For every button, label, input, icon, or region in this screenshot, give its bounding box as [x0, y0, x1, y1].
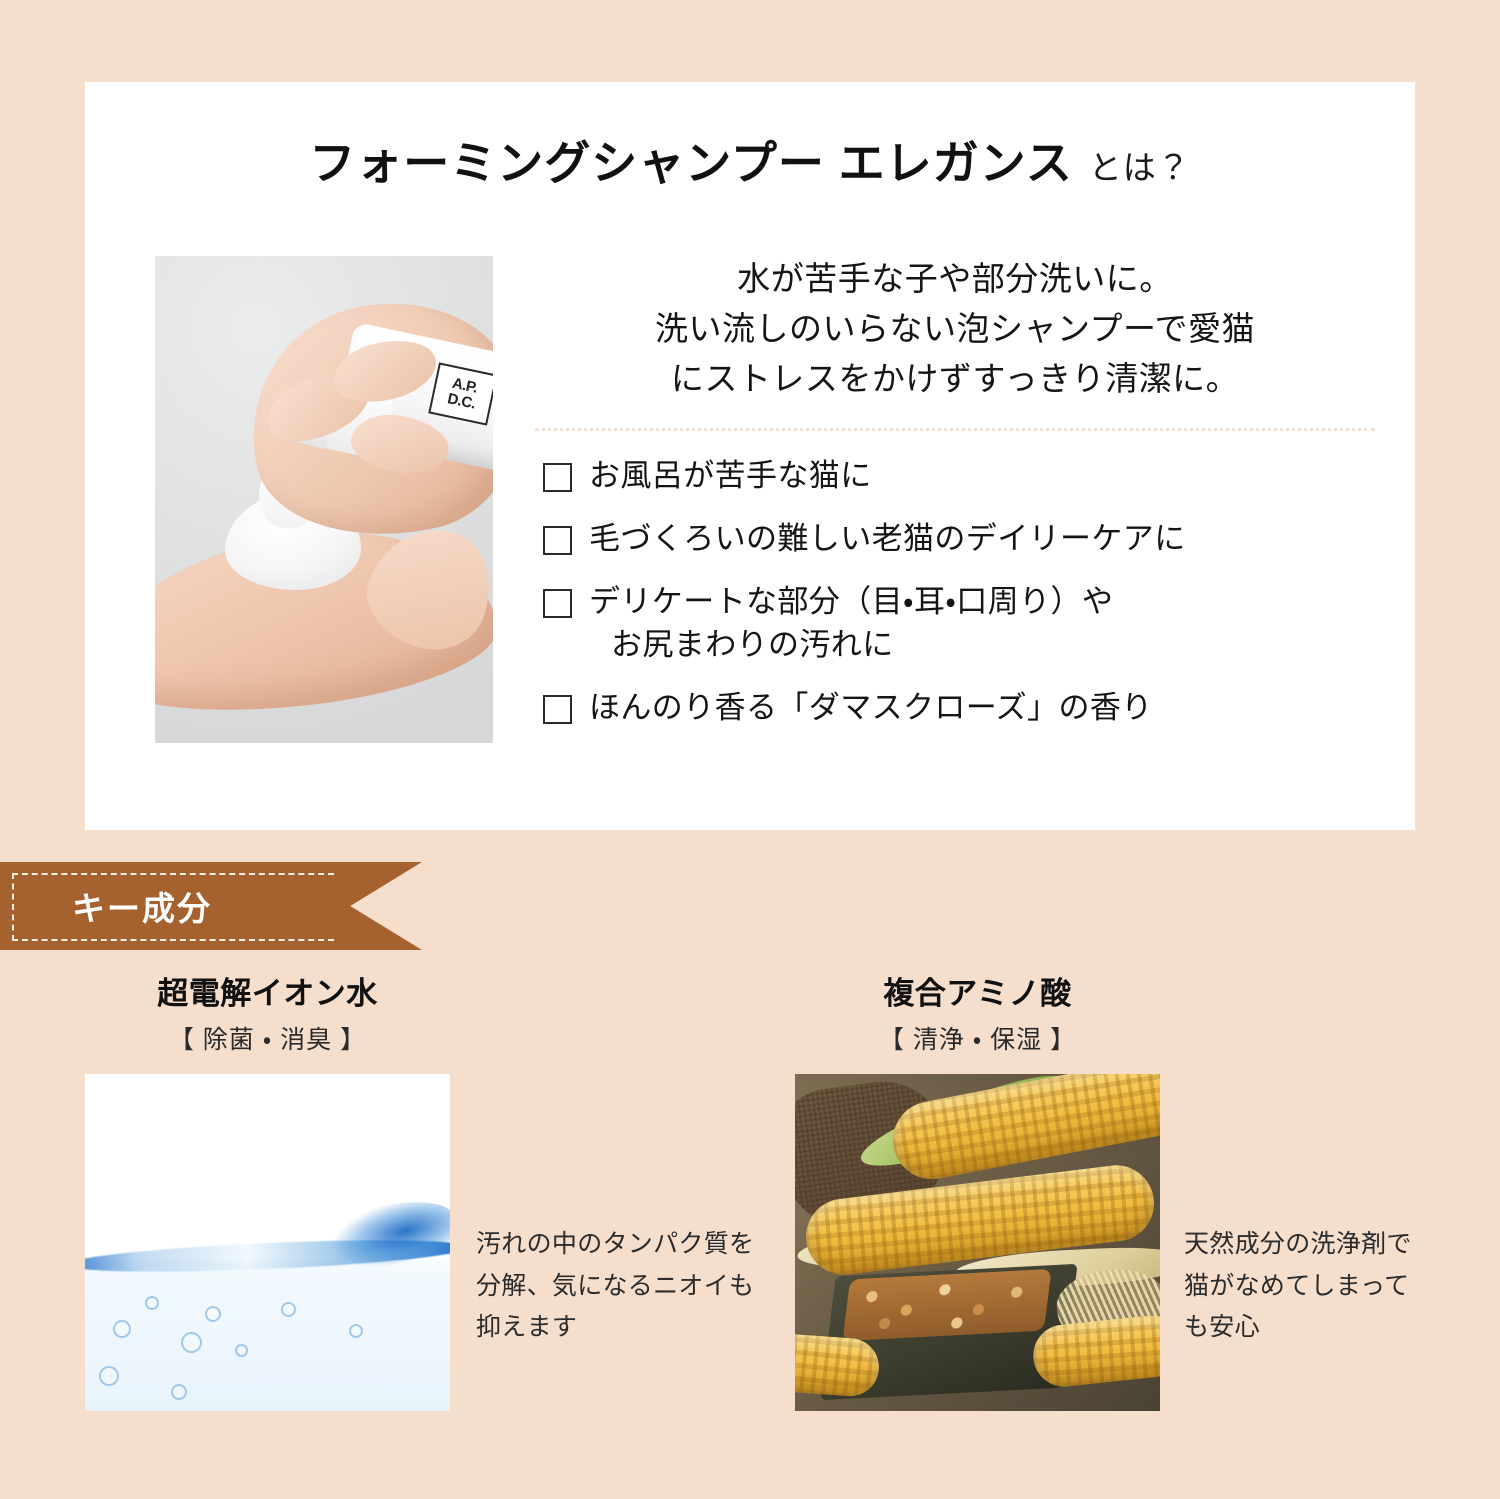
ingredient-title: 複合アミノ酸	[795, 975, 1160, 1012]
ingredient-description: 汚れの中のタンパク質を 分解、気になるニオイも 抑えます	[476, 1224, 754, 1349]
ingredient-subtitle: 【 清浄 ・ 保湿 】	[795, 1020, 1160, 1056]
hero-card: フォーミングシャンプー エレガンスとは？ A.P. D.C. 水が苦手な子や部分…	[85, 82, 1415, 830]
bubble-icon	[145, 1296, 159, 1310]
list-item-line1: デリケートな部分（目・耳・口周り）や	[589, 584, 1113, 619]
list-item: 毛づくろいの難しい老猫のデイリーケアに	[543, 518, 1385, 561]
list-item-label: ほんのり香る「ダマスクローズ」の香り	[589, 687, 1153, 730]
water-illustration	[85, 1074, 450, 1411]
lead-paragraph: 水が苦手な子や部分洗いに。 洗い流しのいらない泡シャンプーで愛猫 にストレスをか…	[525, 254, 1385, 404]
corn-kernels	[842, 1269, 1051, 1341]
checkbox-icon	[543, 589, 572, 618]
ingredient-heading: 超電解イオン水 【 除菌 ・ 消臭 】	[85, 975, 450, 1056]
water-splash	[285, 1190, 450, 1289]
list-item-label: デリケートな部分（目・耳・口周り）や お尻まわりの汚れに	[589, 581, 1113, 667]
list-item-label: お風呂が苦手な猫に	[589, 455, 872, 498]
page-title-main: フォーミングシャンプー エレガンス	[309, 137, 1072, 189]
ingredient-title: 超電解イオン水	[85, 975, 450, 1012]
list-item: デリケートな部分（目・耳・口周り）や お尻まわりの汚れに	[543, 581, 1385, 667]
hero-text-column: 水が苦手な子や部分洗いに。 洗い流しのいらない泡シャンプーで愛猫 にストレスをか…	[525, 254, 1385, 749]
page-title-suffix: とは？	[1089, 149, 1191, 186]
checkbox-icon	[543, 695, 572, 724]
list-item-line2: お尻まわりの汚れに	[589, 624, 1113, 667]
ingredient-block-ion-water: 超電解イオン水 【 除菌 ・ 消臭 】 汚れの中のタンパク質を 分解、気になるニ…	[85, 975, 754, 1411]
ingredient-block-amino-acid: 複合アミノ酸 【 清浄 ・ 保湿 】 天然成分の洗浄剤で 猫がなめてしまって も…	[795, 975, 1412, 1411]
key-ingredients-ribbon: キー成分	[0, 862, 422, 950]
corn-illustration	[795, 1074, 1160, 1411]
list-item-label: 毛づくろいの難しい老猫のデイリーケアに	[589, 518, 1186, 561]
lead-line: 水が苦手な子や部分洗いに。	[525, 254, 1385, 304]
ingredient-subtitle: 【 除菌 ・ 消臭 】	[85, 1020, 450, 1056]
bubble-icon	[99, 1366, 119, 1386]
corn-cobs-photo	[795, 1074, 1160, 1411]
lead-line: にストレスをかけずすっきり清潔に。	[525, 354, 1385, 404]
bubble-icon	[113, 1320, 131, 1338]
dotted-divider	[535, 428, 1375, 431]
ingredient-body: 汚れの中のタンパク質を 分解、気になるニオイも 抑えます	[85, 1074, 754, 1411]
bubble-icon	[349, 1324, 363, 1338]
checkbox-icon	[543, 526, 572, 555]
bubble-icon	[171, 1384, 187, 1400]
water-surface-photo	[85, 1074, 450, 1411]
bubble-icon	[181, 1332, 202, 1353]
checkbox-icon	[543, 463, 572, 492]
ingredient-description: 天然成分の洗浄剤で 猫がなめてしまって も安心	[1184, 1224, 1412, 1349]
list-item: お風呂が苦手な猫に	[543, 455, 1385, 498]
brand-logo-line2: D.C.	[446, 391, 477, 412]
ribbon-label: キー成分	[72, 862, 212, 950]
page-title: フォーミングシャンプー エレガンスとは？	[85, 140, 1415, 186]
feature-checklist: お風呂が苦手な猫に 毛づくろいの難しい老猫のデイリーケアに デリケートな部分（目…	[525, 455, 1385, 729]
bubble-icon	[281, 1302, 296, 1317]
bubble-icon	[205, 1306, 221, 1322]
bubble-icon	[235, 1344, 248, 1357]
list-item: ほんのり香る「ダマスクローズ」の香り	[543, 687, 1385, 730]
lead-line: 洗い流しのいらない泡シャンプーで愛猫	[525, 304, 1385, 354]
product-photo: A.P. D.C.	[155, 256, 493, 743]
ingredient-body: 天然成分の洗浄剤で 猫がなめてしまって も安心	[795, 1074, 1412, 1411]
ingredient-heading: 複合アミノ酸 【 清浄 ・ 保湿 】	[795, 975, 1160, 1056]
